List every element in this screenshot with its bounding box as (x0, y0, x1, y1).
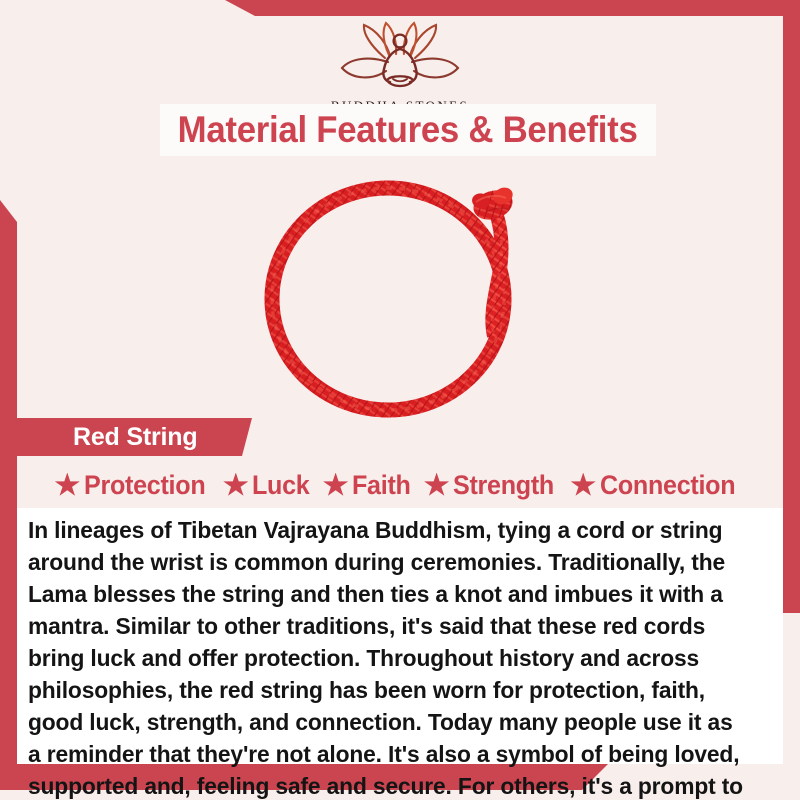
product-image-area (17, 160, 783, 420)
benefit-item: Faith (323, 470, 415, 501)
decoration-left-bar (0, 200, 17, 790)
page-title-band: Material Features & Benefits (160, 104, 656, 156)
description-panel: In lineages of Tibetan Vajrayana Buddhis… (17, 508, 783, 764)
benefits-list: Protection Luck Faith Strength Connectio… (17, 462, 783, 508)
infographic-poster: BUDDHA STONES Material Features & Benefi… (0, 0, 800, 800)
benefit-label: Faith (352, 470, 411, 501)
product-name: Red String (73, 423, 197, 452)
description-text: In lineages of Tibetan Vajrayana Buddhis… (28, 514, 745, 800)
star-icon (223, 473, 248, 498)
lotus-meditation-icon (325, 18, 475, 96)
decoration-top-bar (225, 0, 800, 16)
product-name-banner: Red String (17, 418, 252, 456)
benefit-label: Strength (453, 470, 554, 501)
benefit-label: Luck (252, 470, 310, 501)
benefit-item: Connection (571, 470, 746, 501)
star-icon (571, 473, 596, 498)
benefit-label: Connection (600, 470, 735, 501)
benefit-item: Protection (55, 470, 215, 501)
star-icon (55, 473, 80, 498)
benefit-item: Strength (424, 470, 562, 501)
brand-logo: BUDDHA STONES (0, 18, 800, 114)
page-title: Material Features & Benefits (178, 109, 638, 151)
star-icon (424, 473, 449, 498)
red-string-bracelet-image (250, 160, 550, 420)
benefit-label: Protection (84, 470, 205, 501)
star-icon (323, 473, 348, 498)
benefit-item: Luck (223, 470, 314, 501)
